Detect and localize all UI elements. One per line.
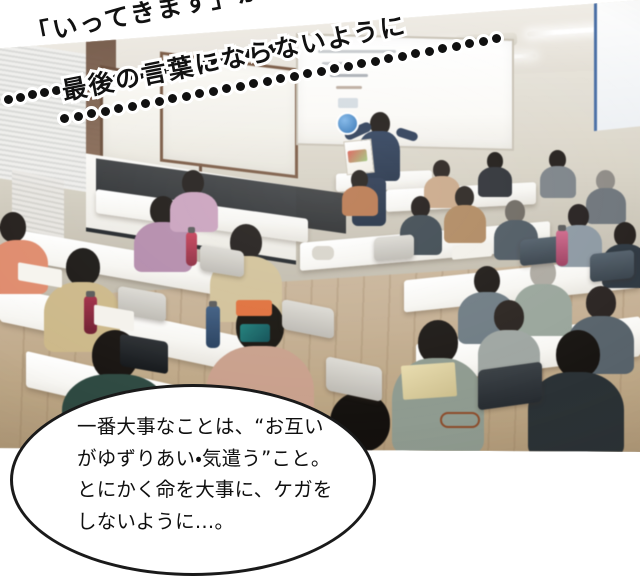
pouch bbox=[240, 324, 270, 342]
chair bbox=[374, 234, 414, 261]
poster-canvas: 「いってきます」が 最後の言葉にならないように 一番大事なことは、“お互い がゆ… bbox=[0, 0, 640, 585]
bubble-line: 一番大事なことは、“お互い bbox=[77, 411, 357, 443]
paper bbox=[452, 242, 492, 259]
bubble-line: しないように…。 bbox=[77, 506, 357, 538]
pouch bbox=[236, 300, 272, 316]
bubble-line: がゆずりあい・気遣う”こと。 bbox=[77, 443, 357, 475]
pouch bbox=[312, 246, 334, 260]
headline-group: 「いってきます」が 最後の言葉にならないように bbox=[0, 0, 640, 130]
eyeglasses bbox=[440, 412, 480, 428]
envelope bbox=[401, 362, 457, 400]
bubble-line: とにかく命を大事に、ケガを bbox=[77, 474, 357, 506]
speech-bubble-text: 一番大事なことは、“お互い がゆずりあい・気遣う”こと。 とにかく命を大事に、ケ… bbox=[77, 411, 357, 537]
water-bottle bbox=[556, 230, 568, 266]
water-bottle bbox=[186, 232, 197, 266]
chair bbox=[590, 250, 634, 283]
water-bottle bbox=[206, 306, 220, 348]
speech-bubble: 一番大事なことは、“お互い がゆずりあい・気遣う”こと。 とにかく命を大事に、ケ… bbox=[10, 384, 376, 576]
